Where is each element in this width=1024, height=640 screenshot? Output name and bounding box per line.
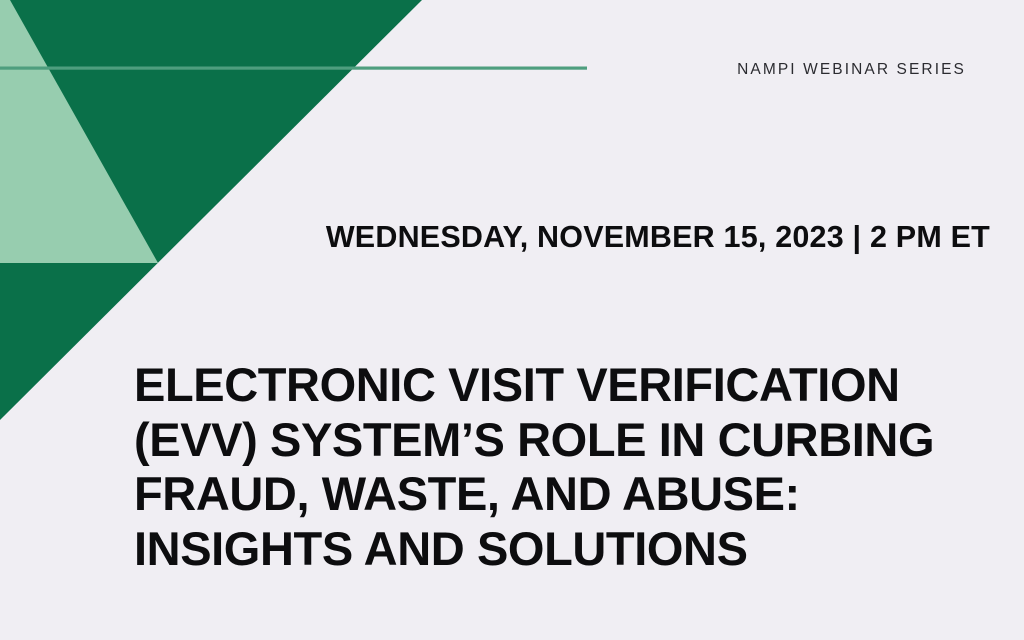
series-eyebrow: NAMPI WEBINAR SERIES	[737, 61, 966, 79]
banner-content: NAMPI WEBINAR SERIES WEDNESDAY, NOVEMBER…	[0, 0, 1024, 640]
title-line-3: FRAUD, WASTE, AND ABUSE:	[134, 467, 1004, 522]
webinar-promo-banner: NAMPI WEBINAR SERIES WEDNESDAY, NOVEMBER…	[0, 0, 1024, 640]
title-line-2: (EVV) SYSTEM’S ROLE IN CURBING	[134, 413, 1004, 468]
title-line-1: ELECTRONIC VISIT VERIFICATION	[134, 358, 1004, 413]
event-date-time: WEDNESDAY, NOVEMBER 15, 2023 | 2 PM ET	[326, 220, 990, 255]
title-line-4: INSIGHTS AND SOLUTIONS	[134, 522, 1004, 577]
page-title: ELECTRONIC VISIT VERIFICATION (EVV) SYST…	[134, 358, 1004, 576]
